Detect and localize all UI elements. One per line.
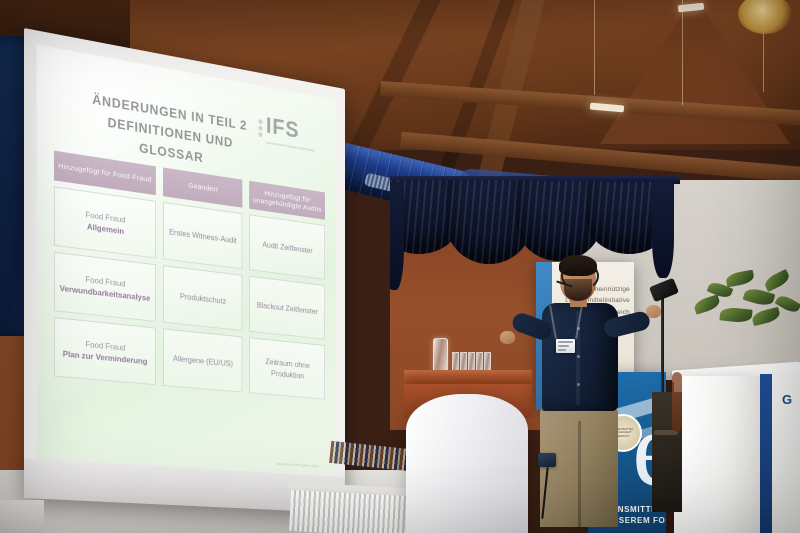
table-cell: Allergene (EU/US) (163, 328, 243, 392)
trouser-seam (578, 421, 581, 527)
table-cell: Zeitraum ohne Produktion (249, 337, 325, 399)
glass (476, 352, 483, 371)
water-carafe (433, 338, 448, 374)
slide-column-3: Hinzugefügt für unangekündigte Audits Au… (249, 181, 325, 400)
headset-microphone-band (561, 261, 599, 291)
column-header-2: Geändert (163, 167, 243, 207)
ceiling-hang-wire-1 (594, 0, 595, 95)
presenter-left-hand (500, 331, 515, 344)
lectern-blue-stripe (760, 374, 772, 533)
lectern-logo-letter: G (782, 392, 792, 407)
ifs-logo-dots (258, 117, 262, 139)
slide-footer-url: www.ifs-certification.com (277, 461, 319, 468)
plant-leaf (725, 270, 755, 288)
table-cell: Blackout Zeitfenster (249, 276, 325, 340)
presenter-right-hand (646, 305, 661, 318)
lectern (674, 376, 760, 533)
cell-line1: Produktschutz (180, 290, 226, 307)
cell-line2: Plan zur Verminderung (63, 349, 148, 367)
belt-pack-transmitter (538, 453, 556, 467)
shirt-button (577, 383, 580, 386)
glass (452, 352, 459, 371)
slide-column-2: Geändert Erstes Witness-Audit Produktsch… (163, 167, 243, 392)
ifs-logo: IFS International Featured Standards (266, 115, 327, 156)
ceiling-hang-wire-2 (682, 0, 683, 105)
ifs-dot-2 (258, 126, 262, 131)
chair-back (672, 372, 682, 432)
drapery-tail-left (390, 182, 404, 290)
cell-line1: Allergene (EU/US) (173, 352, 233, 369)
table-cell: Produktschutz (163, 265, 243, 331)
glass (460, 352, 467, 371)
plant-leaf (693, 294, 722, 314)
name-badge (556, 339, 575, 353)
plant-leaf (751, 307, 781, 326)
potted-plant (690, 268, 800, 338)
drinking-glasses (452, 352, 491, 371)
projection-screen: Änderungen in Teil 2 Definitionen und Gl… (24, 28, 345, 513)
badge-line (558, 345, 569, 347)
slide-column-1: Hinzugefügt für Food Fraud Food Fraud Al… (54, 151, 156, 386)
table-cell: Food Fraud Verwundbarkeitsanalyse (54, 252, 156, 322)
shirt-button (577, 355, 580, 358)
plant-leaf (719, 306, 752, 323)
ifs-dot-3 (258, 132, 262, 137)
badge-line (558, 349, 566, 351)
table-cell: Audit Zeitfenster (249, 214, 325, 279)
cell-line1: Zeitraum ohne Produktion (255, 354, 321, 383)
presenter (498, 255, 678, 533)
table-cell: Food Fraud Plan zur Verminderung (54, 317, 156, 385)
table-cell: Food Fraud Allgemein (54, 186, 156, 258)
table-cell: Erstes Witness-Audit (163, 202, 243, 269)
cell-line1: Blackout Zeitfenster (257, 299, 318, 317)
presentation-slide: Änderungen in Teil 2 Definitionen und Gl… (37, 44, 337, 476)
ifs-dot-1 (258, 119, 262, 124)
cell-line1: Erstes Witness-Audit (169, 226, 237, 247)
plant-leaf (762, 269, 791, 292)
glass (468, 352, 475, 371)
presenter-trousers (540, 407, 618, 527)
badge-line (558, 341, 573, 343)
presentation-photo-scene: Änderungen in Teil 2 Definitionen und Gl… (0, 0, 800, 533)
glass (484, 352, 491, 371)
cell-line1: Audit Zeitfenster (262, 238, 312, 256)
slide-table: Hinzugefügt für Food Fraud Food Fraud Al… (54, 151, 325, 400)
side-panel-left (0, 500, 44, 533)
column-header-3: Hinzugefügt für unangekündigte Audits (249, 181, 325, 220)
